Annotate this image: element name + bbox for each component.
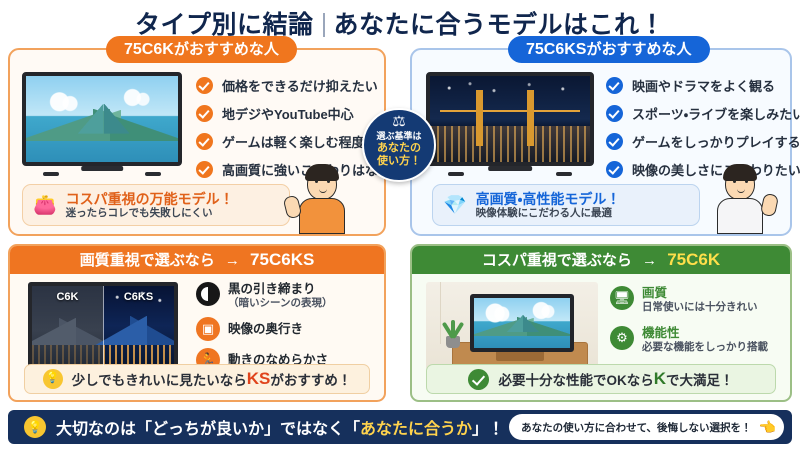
compare-label-right: C6KS [103,291,174,303]
bottom-right-summary-strip: 必要十分な性能でOKならKで大満足！ [426,364,776,394]
diamond-icon: 💎 [443,193,467,217]
footer-message-part2: 」！ [472,421,504,438]
callout-highspec-model: 💎 高画質・高性能モデル！ 映像体験にこだわる人に最適 [432,184,700,226]
check-label: 地デジやYouTube中心 [222,104,354,123]
list-item: 地デジやYouTube中心 [196,104,391,123]
footer-message-part1: 大切なのは「どっちが良いか」ではなく「 [56,421,360,438]
living-room-scene [426,282,598,370]
footer-note-pill: あなたの使い方に合わせて、後悔しない選択を！ 👈 [509,414,784,440]
person-eye-right [327,180,330,183]
tv-screen-bridge [440,110,581,132]
center-criteria-badge: ⚖ 選ぶ基準は あなたの 使い方！ [362,108,436,182]
room-wall-line [440,282,441,344]
list-item: ▣ 映像の奥行き [196,317,332,341]
badge-line-1: 選ぶ基準は [364,130,434,142]
monitor-icon: 🖥 [610,286,634,310]
list-item: ゲームをしっかりプレイする [606,132,800,151]
tv-daytime-landscape [22,72,182,176]
feature-title: 画質 [642,286,758,301]
bottom-left-header: 画質重視で選ぶなら → 75C6KS [10,246,384,274]
panel-picture-quality-choice: 画質重視で選ぶなら → 75C6KS C6K C6KS [8,244,386,402]
bottom-right-feature-list: 🖥 画質 日常使いには十分きれい ⚙ 機能性 必要な機能をしっかり搭載 [610,286,768,361]
plant-leaf [451,320,455,338]
footer-message: 大切なのは「どっちが良いか」ではなく「あなたに合うか」！ [56,415,504,439]
person-eye-left [315,180,318,183]
list-item: 映像の美しさにこだわりたい [606,160,800,179]
badge-line-2: あなたの [364,142,434,155]
strip-highlight: KS [247,369,271,389]
check-label: 価格をできるだけ抑えたい [222,76,378,95]
room-tv [470,294,574,352]
check-circle-icon [196,105,213,122]
arrow-right-icon: → [225,252,240,269]
tv-screen-mountain [78,104,130,133]
footer-message-highlight: あなたに合うか [360,421,472,438]
strip-highlight: K [654,369,666,389]
person-body [717,198,763,234]
bottom-left-header-model: 75C6KS [250,250,314,269]
strip-text-pre: 必要十分な性能でOKなら [498,369,653,389]
panel-left-pill: 75C6Kがおすすめな人 [106,36,297,63]
tv-stand-legs [35,170,169,176]
bottom-right-header-text: コスパ重視で選ぶなら [482,252,632,269]
infographic-root: タイプ別に結論あなたに合うモデルはこれ！ 75C6Kがおすすめな人 価格をできる… [0,0,800,450]
title-main: あなたに合うモデルはこれ！ [334,11,666,39]
check-circle-icon [606,133,623,150]
check-circle-icon [196,77,213,94]
feature-title: 映像の奥行き [228,317,303,341]
list-item: 🖥 画質 日常使いには十分きれい [610,286,768,314]
bottom-right-header: コスパ重視で選ぶなら → 75C6K [412,246,790,274]
list-item: 価格をできるだけ抑えたい [196,76,391,95]
panel-cost-performance-choice: コスパ重視で選ぶなら → 75C6K 🖥 画質 日 [410,244,792,402]
check-circle-icon [196,161,213,178]
strip-text-post: がおすすめ！ [270,369,351,389]
callout-cospa-model: 👛 コスパ重視の万能モデル！ 迷ったらコレでも失敗しにくい [22,184,290,226]
footer-message-bar: 大切なのは「どっちが良いか」ではなく「あなたに合うか」！ あなたの使い方に合わせ… [8,410,792,444]
list-item: 映画やドラマをよく観る [606,76,800,95]
list-item: スポーツ・ライブを楽しみたい [606,104,800,123]
compare-glow-vivid [103,342,174,366]
list-item: 高画質に強いこだわりはない [196,160,391,179]
compare-label-left: C6K [32,291,103,303]
lightbulb-icon [24,416,46,438]
list-item: 黒の引き締まり （暗いシーンの表現） [196,282,332,310]
check-circle-icon [196,133,213,150]
panel-right-pill: 75C6KSがおすすめな人 [508,36,710,63]
arrow-right-icon: → [642,252,657,269]
contrast-icon [196,282,220,306]
person-eye-left [733,180,736,183]
wallet-icon: 👛 [33,193,57,217]
feature-sub: 日常使いには十分きれい [642,301,758,314]
feature-sub: （暗いシーンの表現） [228,297,332,310]
panel-left-pill-model: 75C6K [124,41,174,58]
footer-note-text: あなたの使い方に合わせて、後悔しない選択を！ [521,420,751,435]
check-circle-icon [468,369,489,390]
tv-stand-legs [439,170,580,176]
check-label: ゲームは軽く楽しむ程度 [222,132,365,151]
strip-text-pre: 少しでもきれいに見たいなら [72,369,247,389]
callout-left-sub: 迷ったらコレでも失敗しにくい [66,207,234,220]
check-circle-icon [606,105,623,122]
callout-right-headline: 高画質・高性能モデル！ [476,191,621,207]
bottom-left-header-text: 画質重視で選ぶなら [80,252,215,269]
left-check-list: 価格をできるだけ抑えたい 地デジやYouTube中心 ゲームは軽く楽しむ程度 高… [196,76,391,188]
person-hair [723,164,757,181]
check-label: 映画やドラマをよく観る [632,76,775,95]
callout-right-sub: 映像体験にこだわる人に最適 [476,207,621,220]
panel-left-pill-suffix: がおすすめな人 [174,41,279,58]
balance-scales-icon: ⚖ [364,114,434,130]
person-hair [305,164,339,181]
right-check-list: 映画やドラマをよく観る スポーツ・ライブを楽しみたい ゲームをしっかりプレイする… [606,76,800,188]
badge-line-3: 使い方！ [364,155,434,168]
panel-right-pill-model: 75C6KS [526,41,586,58]
list-item: ⚙ 機能性 必要な機能をしっかり搭載 [610,326,768,354]
bottom-right-header-model: 75C6K [667,250,720,269]
callout-left-headline: コスパ重視の万能モデル！ [66,191,234,207]
gear-icon: ⚙ [610,326,634,350]
person-eye-right [745,180,748,183]
room-tv-mountain [507,315,540,332]
title-divider [323,13,325,37]
title-lead: タイプ別に結論 [135,11,314,39]
person-body [299,198,345,234]
compare-glow-dull [32,342,103,366]
bottom-left-summary-strip: 少しでもきれいに見たいならKSがおすすめ！ [24,364,370,394]
compare-screens: C6K C6KS [28,282,178,370]
check-label: スポーツ・ライブを楽しみたい [632,104,800,123]
feature-title: 機能性 [642,326,768,341]
strip-text-post: で大満足！ [666,369,734,389]
person-illustration-thumbs-up [714,160,766,234]
person-illustration-orange-hoodie [296,160,348,234]
tv-night-bridge [426,72,594,176]
potted-plant-icon [442,318,464,348]
lightbulb-icon [43,369,63,389]
panel-right-pill-suffix: がおすすめな人 [586,41,691,58]
layers-depth-icon: ▣ [196,317,220,341]
check-circle-icon [606,77,623,94]
compare-frame: C6K C6KS [28,282,178,370]
check-label: ゲームをしっかりプレイする [632,132,800,151]
check-circle-icon [606,161,623,178]
feature-title: 黒の引き締まり [228,282,332,297]
pointing-hand-icon: 👈 [759,419,776,436]
feature-sub: 必要な機能をしっかり搭載 [642,341,768,354]
